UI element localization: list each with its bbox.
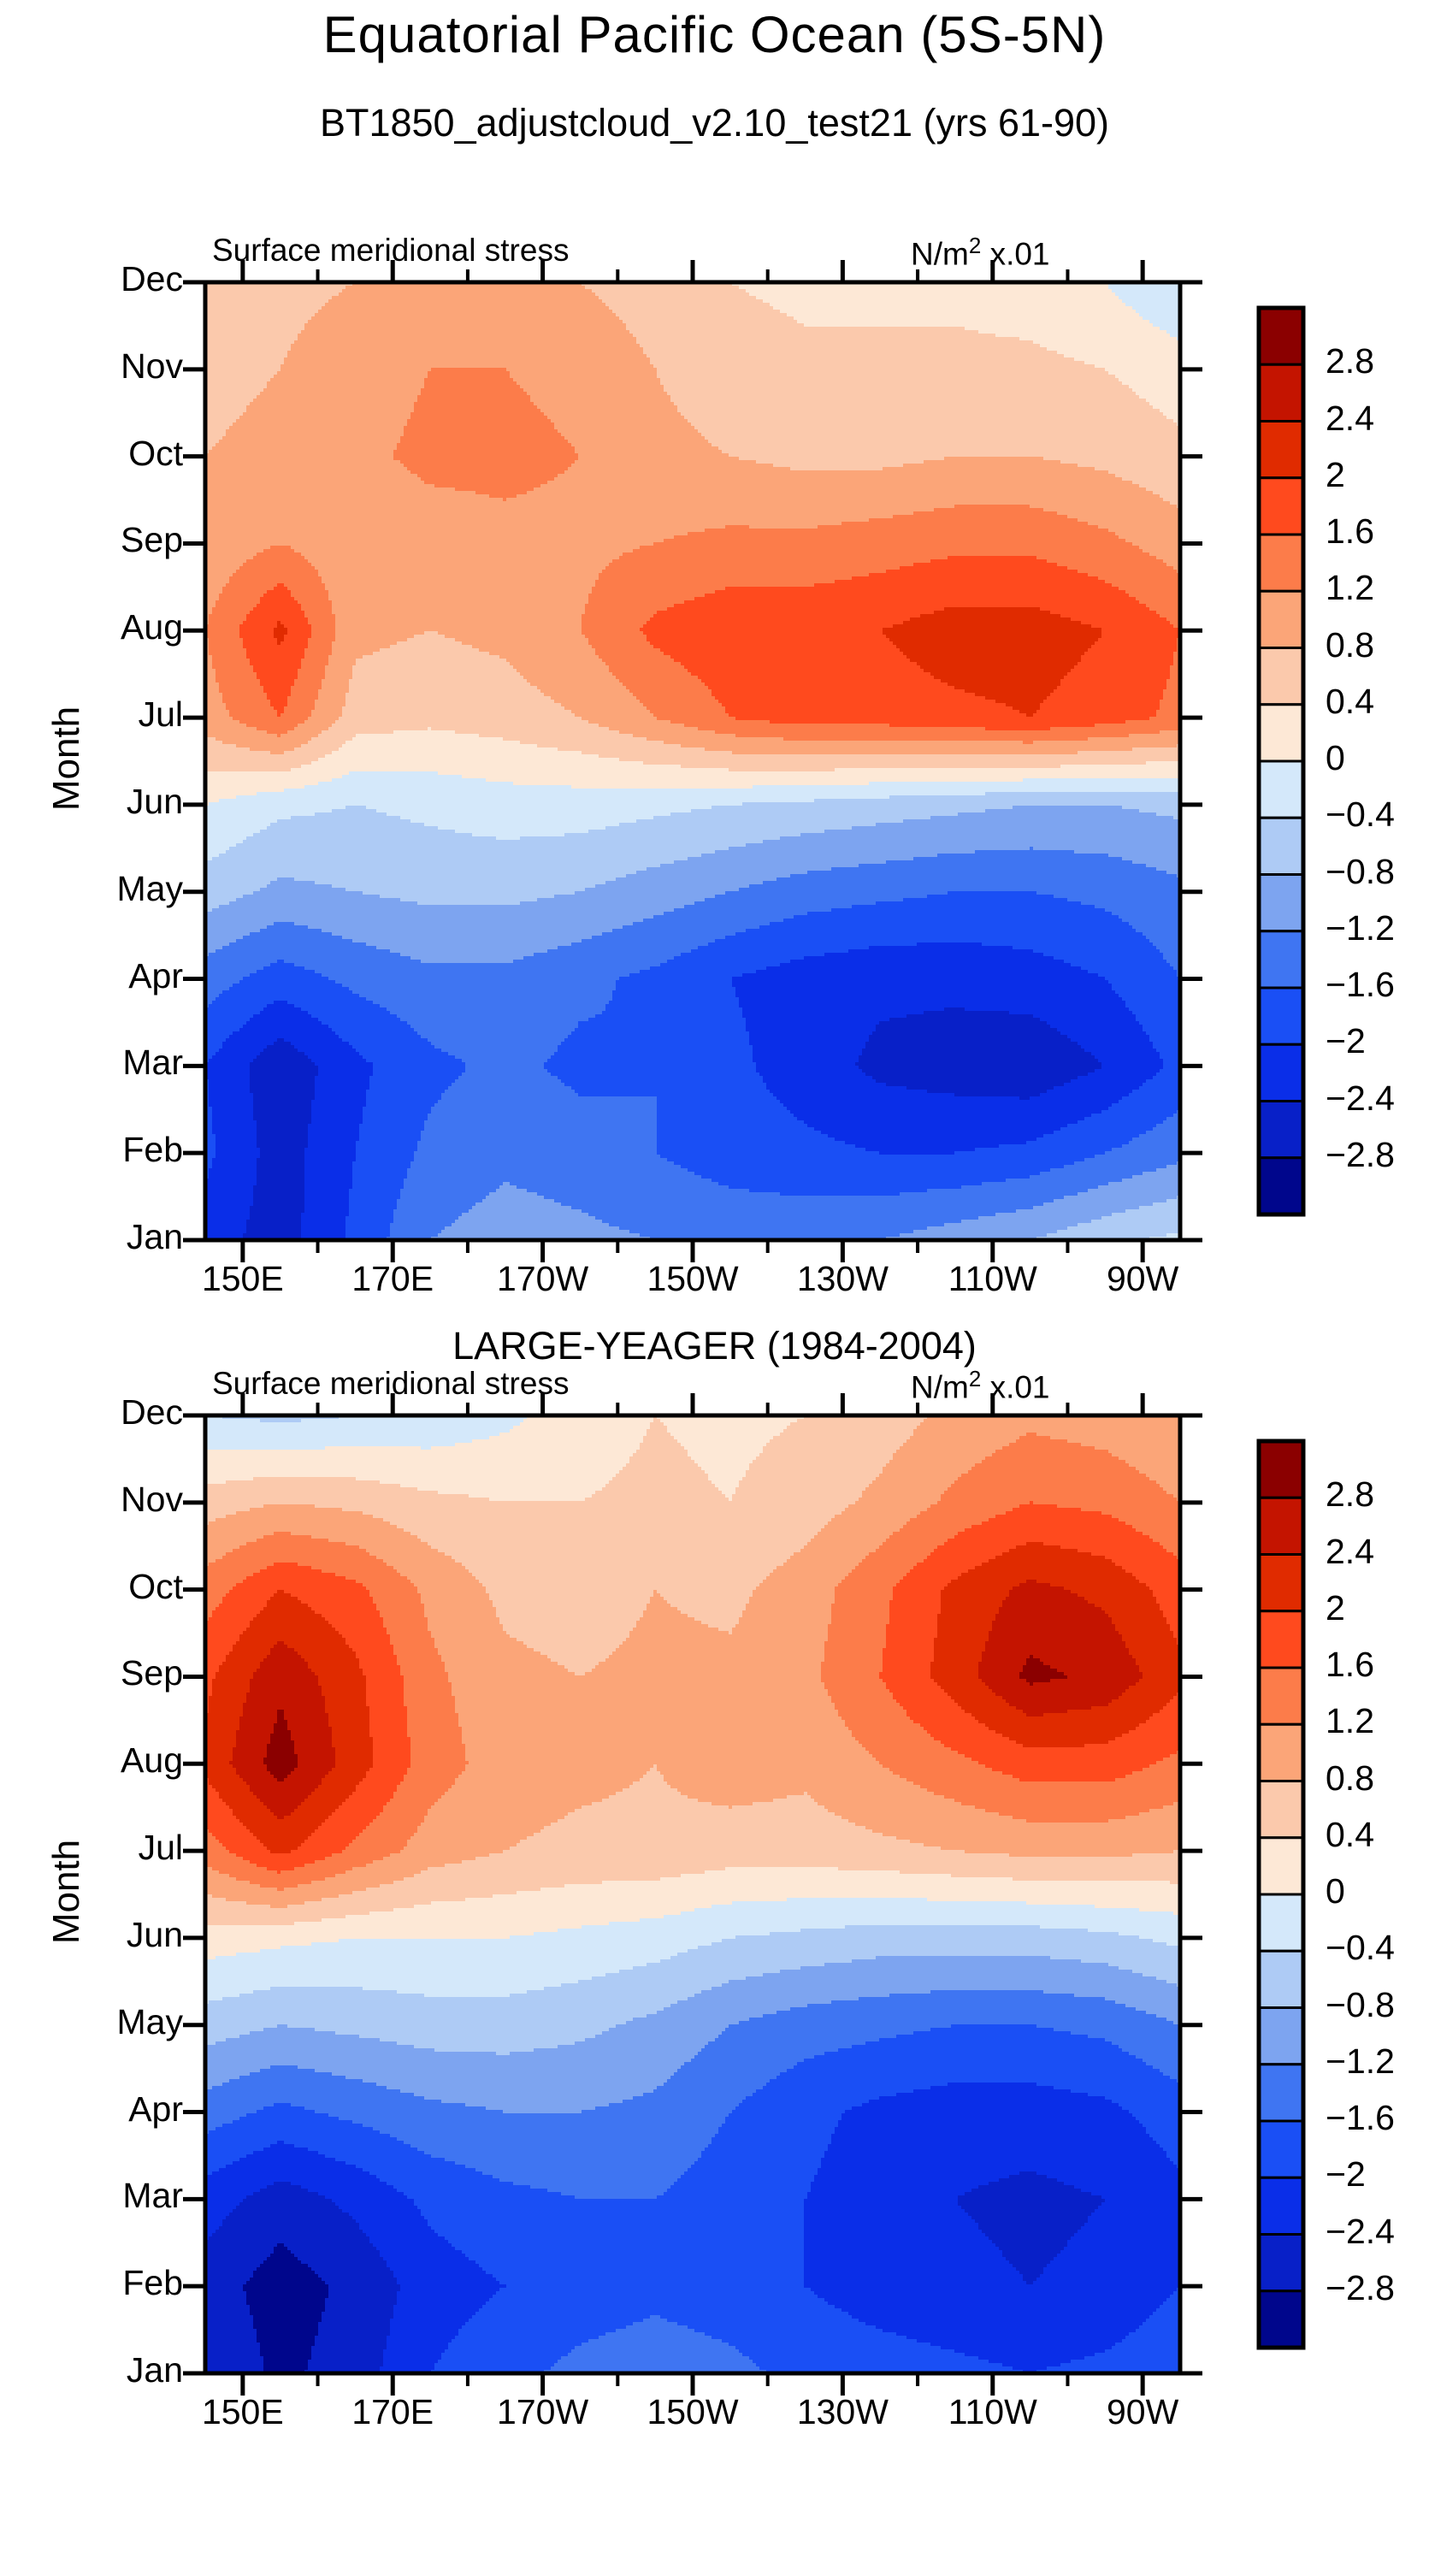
- colorbar-tick-label: 2: [1326, 1588, 1429, 1628]
- x-tick-label-150w: 150W: [624, 2392, 761, 2432]
- x-tick-label-150w: 150W: [624, 1259, 761, 1299]
- x-tick-label-110w: 110W: [924, 1259, 1061, 1299]
- x-tick-label-170e: 170E: [324, 2392, 461, 2432]
- plot-frame: [205, 1415, 1180, 2373]
- y-tick-label-may: May: [55, 2002, 183, 2042]
- x-tick-label-90w: 90W: [1074, 2392, 1211, 2432]
- colorbar-tick-label: −2.8: [1326, 2268, 1429, 2308]
- colorbar-tick-label: 0.4: [1326, 1815, 1429, 1855]
- colorbar-tick-label: −2.4: [1326, 2212, 1429, 2252]
- colorbar-tick-label: −1.6: [1326, 2098, 1429, 2138]
- plot-units-label: N/m2 x.01: [911, 1366, 1050, 1405]
- colorbar: [1259, 1441, 1303, 2348]
- panel2-title: LARGE-YEAGER (1984-2004): [0, 1324, 1429, 1368]
- contour-panel-observation: Surface meridional stressN/m2 x.01MonthJ…: [0, 0, 1429, 1197]
- x-tick-label-90w: 90W: [1074, 1259, 1211, 1299]
- figure-root: Equatorial Pacific Ocean (5S-5N) BT1850_…: [0, 0, 1429, 2576]
- y-tick-label-aug: Aug: [55, 1740, 183, 1781]
- y-tick-label-nov: Nov: [55, 1480, 183, 1520]
- y-tick-label-jul: Jul: [55, 1828, 183, 1868]
- y-axis-title: Month: [45, 1789, 88, 1994]
- x-tick-label-110w: 110W: [924, 2392, 1061, 2432]
- colorbar-tick-label: −1.2: [1326, 2041, 1429, 2082]
- colorbar-tick-label: −2: [1326, 2154, 1429, 2195]
- x-tick-label-170w: 170W: [475, 2392, 611, 2432]
- colorbar-tick-label: 0: [1326, 1871, 1429, 1911]
- y-tick-label-apr: Apr: [55, 2089, 183, 2130]
- colorbar-tick-label: −0.8: [1326, 1985, 1429, 2025]
- contour-field: [205, 1415, 1180, 2373]
- colorbar-tick-label: 1.6: [1326, 1645, 1429, 1685]
- x-tick-label-130w: 130W: [774, 2392, 911, 2432]
- y-tick-label-sep: Sep: [55, 1653, 183, 1693]
- y-tick-label-jun: Jun: [55, 1915, 183, 1955]
- y-tick-label-jan: Jan: [55, 2350, 183, 2390]
- y-tick-label-dec: Dec: [55, 1392, 183, 1433]
- colorbar-tick-label: 2.4: [1326, 1532, 1429, 1572]
- y-tick-label-jan: Jan: [55, 1217, 183, 1257]
- plot-variable-label: Surface meridional stress: [212, 1366, 569, 1402]
- colorbar-tick-label: 2.8: [1326, 1474, 1429, 1515]
- x-tick-label-150e: 150E: [174, 1259, 311, 1299]
- x-tick-label-170e: 170E: [324, 1259, 461, 1299]
- colorbar-tick-label: 0.8: [1326, 1758, 1429, 1799]
- x-tick-label-130w: 130W: [774, 1259, 911, 1299]
- x-tick-label-170w: 170W: [475, 1259, 611, 1299]
- y-tick-label-oct: Oct: [55, 1567, 183, 1607]
- colorbar-tick-label: −0.4: [1326, 1928, 1429, 1968]
- x-tick-label-150e: 150E: [174, 2392, 311, 2432]
- colorbar-tick-label: 1.2: [1326, 1701, 1429, 1741]
- y-tick-label-mar: Mar: [55, 2176, 183, 2216]
- y-tick-label-feb: Feb: [55, 2263, 183, 2303]
